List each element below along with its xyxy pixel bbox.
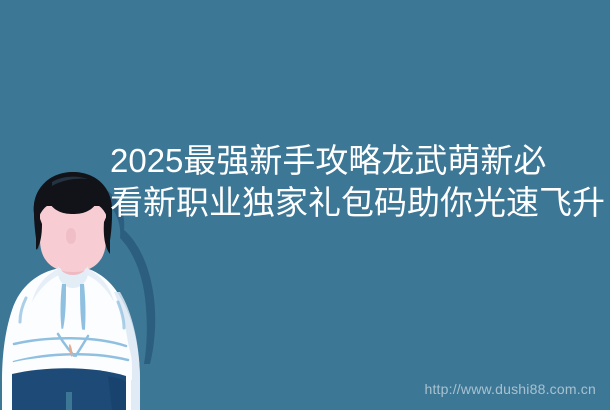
headline-line-2: 看新职业独家礼包码助你光速飞升 [110,182,602,224]
headline: 2025最强新手攻略龙武萌新必 看新职业独家礼包码助你光速飞升 [110,140,602,224]
headline-line-1: 2025最强新手攻略龙武萌新必 [110,140,602,182]
promo-banner: 2025最强新手攻略龙武萌新必 看新职业独家礼包码助你光速飞升 http://w… [0,0,610,410]
leg-split [66,392,72,410]
pants [12,368,126,410]
nose-shape [66,228,76,244]
face [40,206,106,272]
watermark-url: http://www.dushi88.com.cn [424,380,596,398]
